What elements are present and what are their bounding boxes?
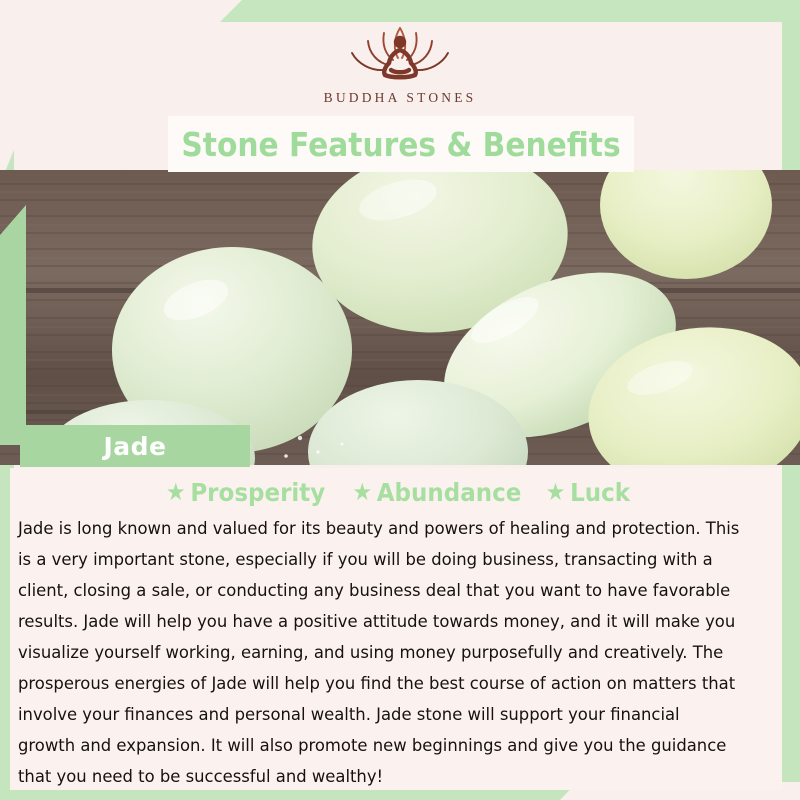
brand-logo: BUDDHA STONES [0,22,800,118]
infographic-page: BUDDHA STONES Stone Features & Benefits [0,0,800,800]
benefit-label: Luck [570,478,630,507]
content-panel: ★ Prosperity ★ Abundance ★ Luck Jade is … [10,468,782,790]
header-banner: Stone Features & Benefits [168,116,634,172]
lotus-meditation-icon [325,22,475,88]
benefit-item: ★ Luck [545,478,629,507]
accent-band-top-right [220,0,800,22]
star-icon: ★ [545,480,565,504]
stone-name-label: Jade [103,432,166,461]
page-title: Stone Features & Benefits [181,125,620,164]
benefit-item: ★ Prosperity [166,478,325,507]
stone-name-badge: Jade [20,425,250,467]
brand-name: BUDDHA STONES [324,90,477,106]
benefit-label: Prosperity [190,478,325,507]
accent-wedge-left-photo [0,205,26,445]
jade-stones-image [0,170,800,465]
stone-photo [0,170,800,465]
benefits-list: ★ Prosperity ★ Abundance ★ Luck [10,468,782,512]
star-icon: ★ [352,480,372,504]
benefit-item: ★ Abundance [352,478,521,507]
star-icon: ★ [166,480,186,504]
stone-description: Jade is long known and valued for its be… [18,514,740,793]
benefit-label: Abundance [377,478,522,507]
